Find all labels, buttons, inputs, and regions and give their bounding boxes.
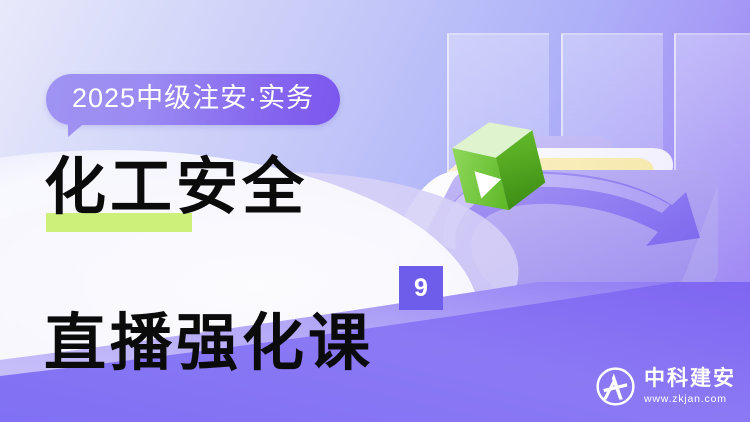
course-poster: 2025中级注安·实务 化工安全 直播强化课 9 中科建安 www.zkjan.… bbox=[0, 0, 750, 422]
brand-logo: 中科建安 www.zkjan.com bbox=[596, 367, 736, 406]
course-category-label: 2025中级注安·实务 bbox=[46, 74, 340, 125]
badge-tail bbox=[68, 121, 87, 137]
course-category-badge: 2025中级注安·实务 bbox=[46, 74, 340, 125]
brand-url: www.zkjan.com bbox=[644, 394, 736, 405]
brand-logo-text: 中科建安 www.zkjan.com bbox=[644, 368, 736, 405]
headline-line-2: 直播强化课 bbox=[44, 312, 750, 374]
brand-name: 中科建安 bbox=[644, 368, 736, 389]
headline-line-1: 化工安全 bbox=[44, 156, 750, 218]
zkjan-monogram-icon bbox=[596, 367, 635, 406]
episode-number-badge: 9 bbox=[399, 266, 443, 310]
